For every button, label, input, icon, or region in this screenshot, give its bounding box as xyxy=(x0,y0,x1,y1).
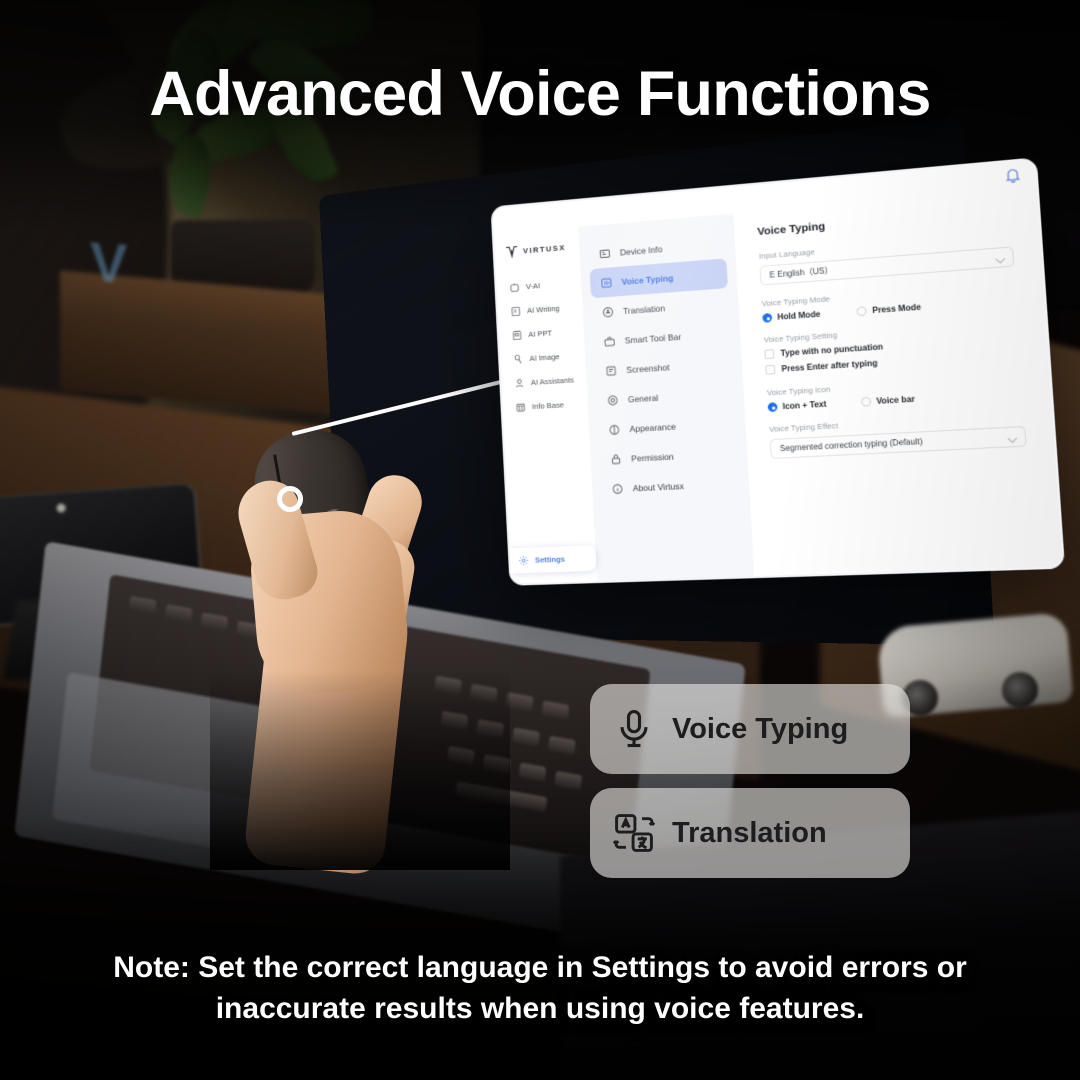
settings-content-pane: Voice Typing Input Language E English（US… xyxy=(732,160,1063,577)
appearance-icon xyxy=(608,423,621,436)
sidebar-item-label: Info Base xyxy=(532,400,564,411)
footnote-text: Note: Set the correct language in Settin… xyxy=(55,948,1025,1030)
radio-indicator xyxy=(857,306,867,316)
permission-icon xyxy=(610,452,623,465)
sidebar-item-label: AI Assistants xyxy=(531,375,575,387)
nav-item-label: Device Info xyxy=(620,244,663,258)
page-headline: Advanced Voice Functions xyxy=(0,58,1080,130)
checkbox-indicator xyxy=(765,365,775,375)
nav-item-label: Voice Typing xyxy=(621,272,673,286)
voice-typing-icon xyxy=(600,276,613,289)
radio-press-mode[interactable]: Press Mode xyxy=(857,302,921,316)
robot-icon xyxy=(509,281,520,293)
radio-label: Press Mode xyxy=(872,302,921,315)
nav-item-about-virtusx[interactable]: About Virtusx xyxy=(601,468,741,504)
sidebar-item-settings[interactable]: Settings xyxy=(510,545,597,573)
sidebar-item-label: Settings xyxy=(535,554,565,564)
microphone-icon xyxy=(612,707,656,751)
device-info-icon xyxy=(598,247,611,260)
badge-label: Translation xyxy=(672,817,827,850)
brand-name: VIRTUSX xyxy=(523,243,566,256)
radio-voice-bar[interactable]: Voice bar xyxy=(861,394,915,407)
sidebar-item-label: AI Writing xyxy=(527,303,560,314)
nav-item-label: Permission xyxy=(631,451,674,463)
virtusx-logo-icon xyxy=(504,244,519,260)
nav-item-label: Translation xyxy=(623,303,665,316)
callout-ring-marker xyxy=(277,486,303,512)
input-language-value: E English（US） xyxy=(769,265,833,281)
screenshot-icon xyxy=(605,364,618,377)
badge-label: Voice Typing xyxy=(672,713,848,746)
nav-item-label: General xyxy=(628,392,659,404)
info-circle-icon xyxy=(611,482,624,495)
radio-hold-mode[interactable]: Hold Mode xyxy=(762,309,820,322)
poster-stage: V xyxy=(0,0,1080,1080)
presentation-icon xyxy=(511,329,522,341)
radio-label: Icon + Text xyxy=(782,399,826,411)
sidebar-item-label: AI Image xyxy=(529,352,559,363)
nav-item-label: About Virtusx xyxy=(633,480,685,493)
nav-item-label: Appearance xyxy=(629,421,676,434)
translation-icon xyxy=(602,305,615,318)
voice-typing-effect-value: Segmented correction typing (Default) xyxy=(780,437,923,454)
radio-icon-plus-text[interactable]: Icon + Text xyxy=(768,399,827,412)
radio-label: Hold Mode xyxy=(777,309,821,321)
general-gear-icon xyxy=(606,393,619,406)
page-title: Voice Typing xyxy=(757,205,1011,239)
translate-icon xyxy=(612,811,656,855)
radio-indicator xyxy=(861,397,871,407)
settings-nav-column: Device Info Voice Typing xyxy=(577,187,755,581)
sidebar-item-label: V-AI xyxy=(526,281,541,291)
database-icon xyxy=(515,401,526,413)
sidebar-item-label: AI PPT xyxy=(528,328,552,339)
checkbox-label: Press Enter after typing xyxy=(781,358,878,373)
radio-indicator xyxy=(762,313,772,323)
bell-icon[interactable] xyxy=(1003,166,1022,185)
badge-translation: Translation xyxy=(590,788,910,878)
app-window: VIRTUSX V-AI AI xyxy=(490,157,1065,586)
brand-logo: VIRTUSX xyxy=(494,233,580,261)
chevron-down-icon xyxy=(1008,434,1018,443)
pencil-document-icon xyxy=(510,305,521,317)
nav-item-label: Screenshot xyxy=(626,362,670,375)
radio-label: Voice bar xyxy=(876,394,915,406)
image-icon xyxy=(513,353,524,365)
hand-holding-mouse xyxy=(210,420,510,840)
checkbox-label: Type with no punctuation xyxy=(780,342,883,358)
toolbox-icon xyxy=(603,335,616,348)
checkbox-indicator xyxy=(764,349,774,359)
nav-item-label: Smart Tool Bar xyxy=(624,331,681,345)
gear-icon xyxy=(518,555,529,566)
assistants-icon xyxy=(514,377,525,389)
badge-voice-typing: Voice Typing xyxy=(590,684,910,774)
feature-badges: Voice Typing Translation xyxy=(590,684,910,892)
chevron-down-icon xyxy=(995,255,1005,264)
radio-indicator xyxy=(768,402,778,412)
